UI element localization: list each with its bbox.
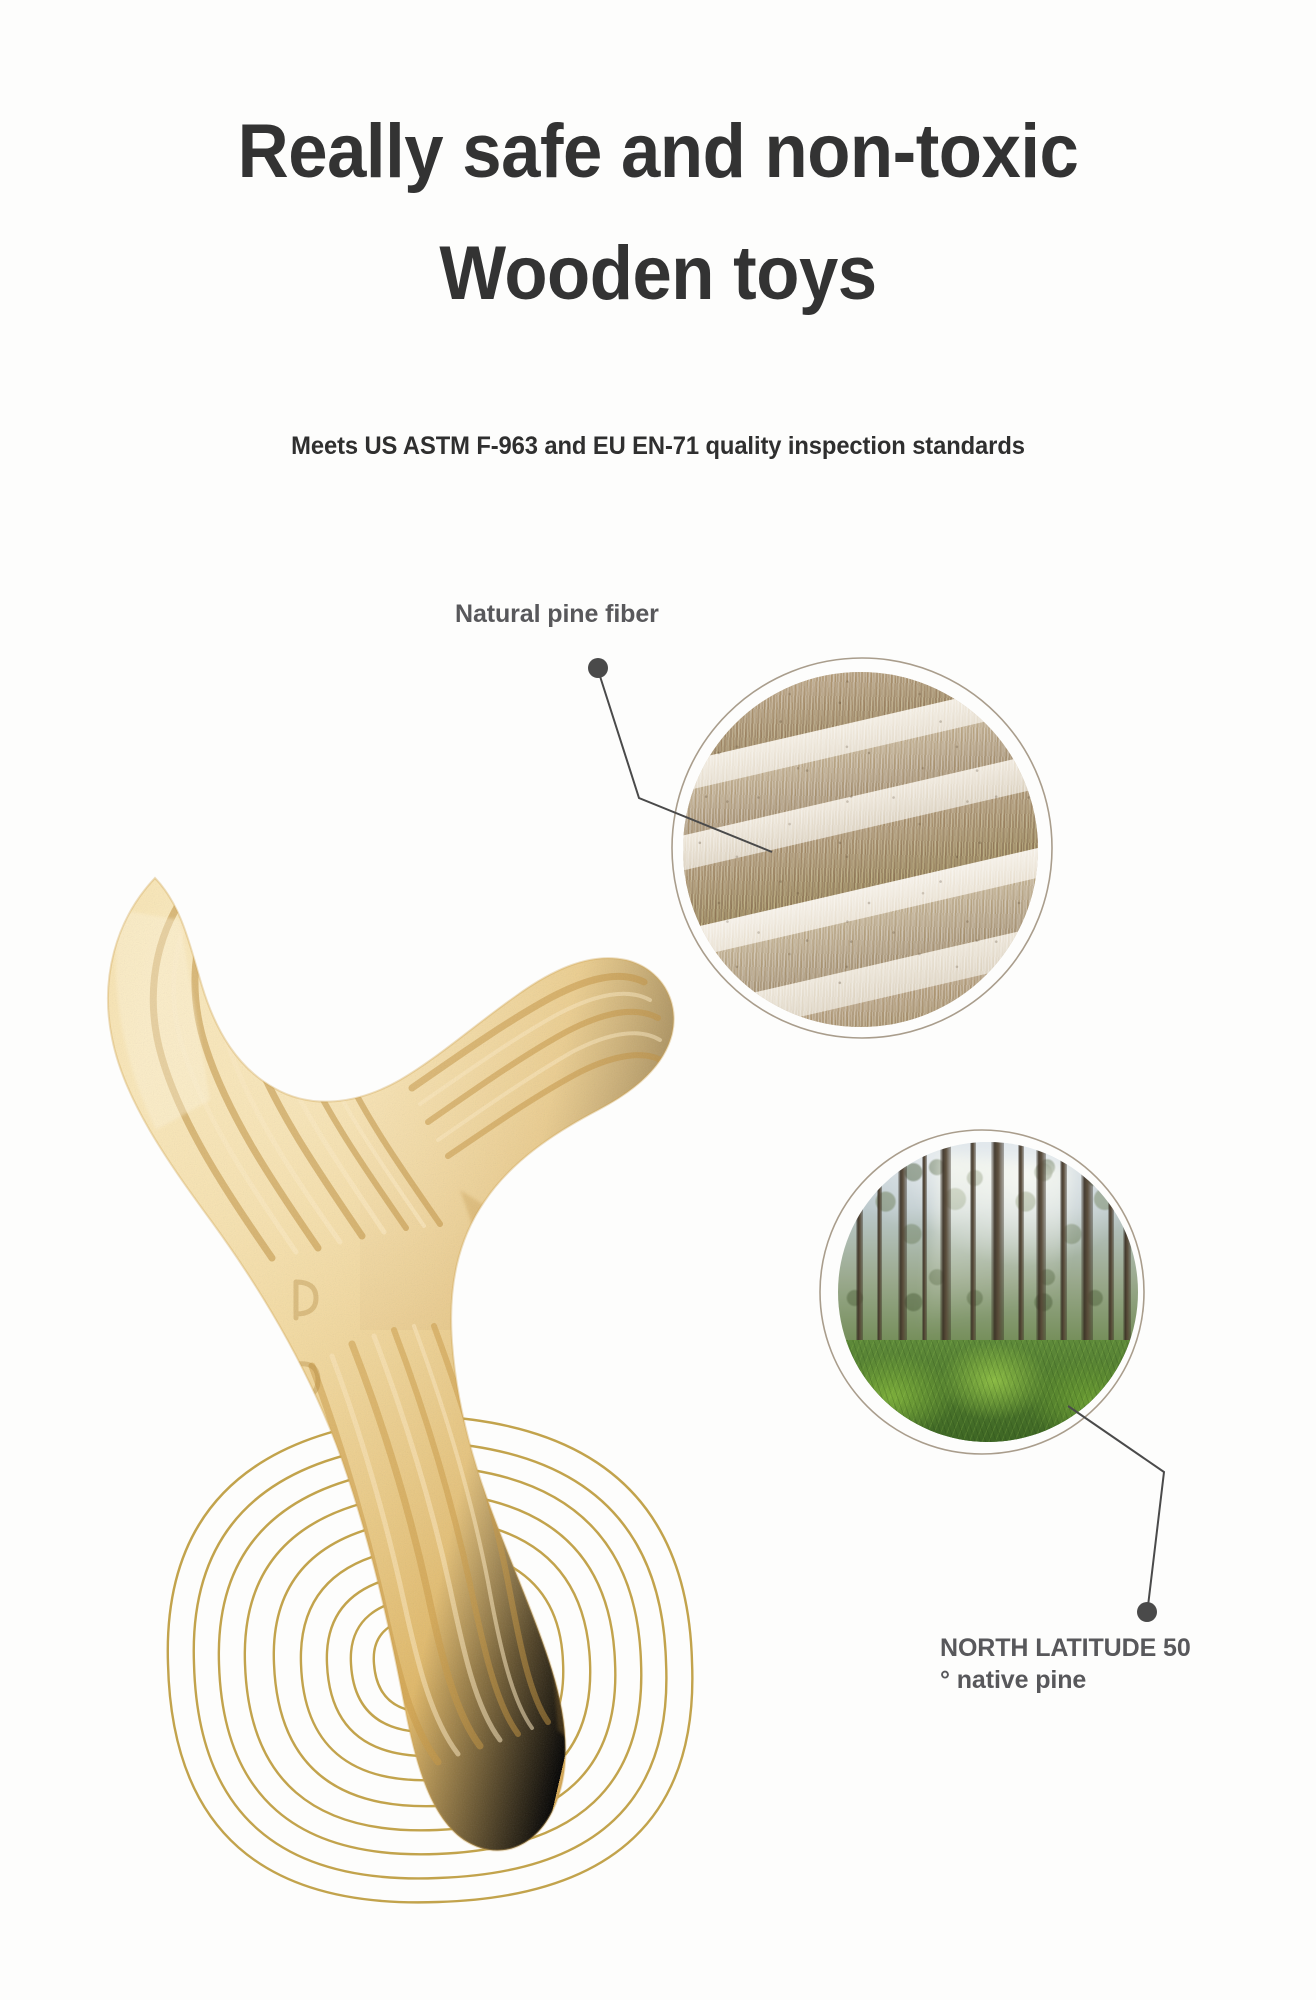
leader-line-north-latitude-pine xyxy=(1068,1406,1164,1622)
callout-label-line-1: NORTH LATITUDE 50 xyxy=(940,1632,1270,1664)
callout-label-natural-pine-fiber: Natural pine fiber xyxy=(455,598,659,630)
forest-circle-outer-ring xyxy=(820,1130,1144,1454)
callout-label-line-2: ° native pine xyxy=(940,1664,1270,1696)
product-infographic-page: Really safe and non-toxic Wooden toys Me… xyxy=(0,0,1316,2000)
callout-label-north-latitude-pine: NORTH LATITUDE 50 ° native pine xyxy=(940,1632,1270,1696)
page-headline-line-1: Really safe and non-toxic xyxy=(46,114,1270,190)
page-subtitle: Meets US ASTM F-963 and EU EN-71 quality… xyxy=(33,432,1283,461)
leader-line-natural-pine-fiber xyxy=(588,658,772,852)
fiber-circle-outer-ring xyxy=(672,658,1052,1038)
page-headline-line-2: Wooden toys xyxy=(46,236,1270,312)
